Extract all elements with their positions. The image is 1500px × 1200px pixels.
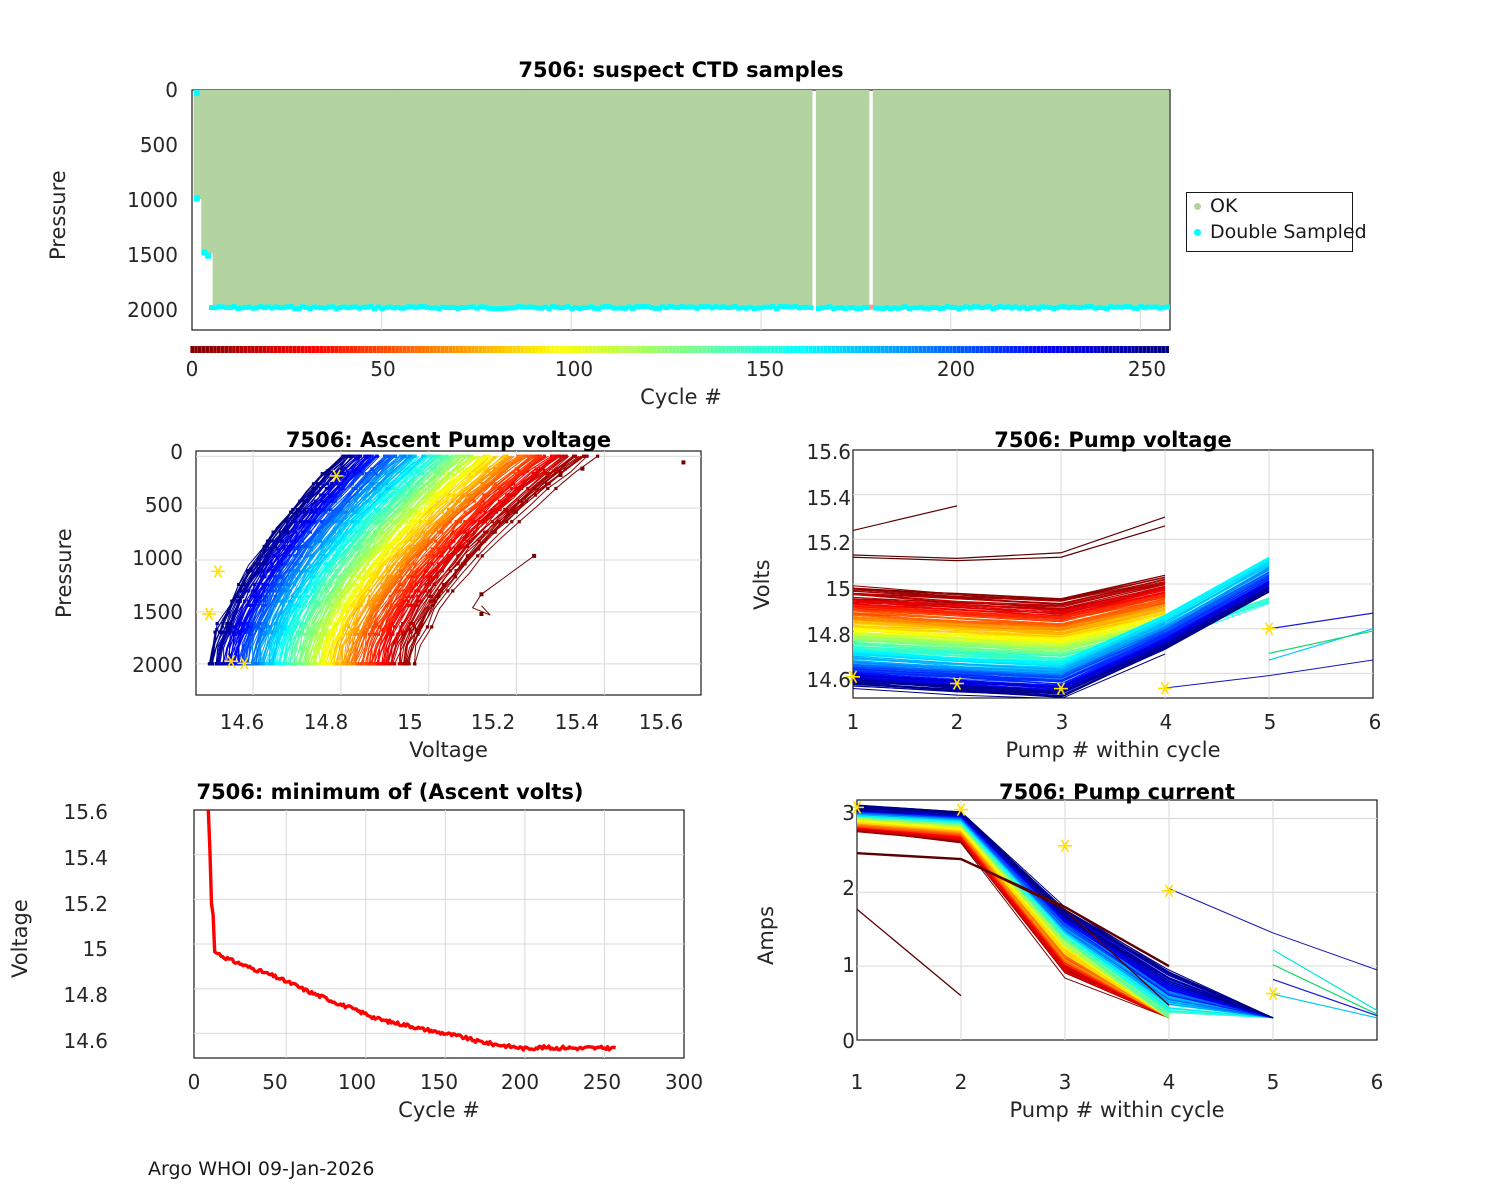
xtick-pv-2: 2: [927, 710, 987, 734]
ytick-asc-1000: 1000: [105, 546, 183, 570]
ytick-pc-1: 1: [785, 953, 855, 977]
xtick-mv-100: 100: [327, 1070, 387, 1094]
legend-suspect-ctd: OK Double Sampled: [1186, 192, 1353, 252]
ytick-1500: 1500: [100, 243, 178, 267]
yaxis-label-amps: Amps: [754, 906, 778, 965]
panel-title-suspect-ctd: 7506: suspect CTD samples: [192, 58, 1170, 82]
xaxis-label-pump-number-voltage: Pump # within cycle: [853, 738, 1373, 762]
plot-area-minimum-ascent-volts: [0, 770, 740, 1120]
xtick-asc-15: 15: [372, 710, 448, 734]
legend-item-double-sampled: Double Sampled: [1187, 219, 1352, 245]
xaxis-label-pump-number-current: Pump # within cycle: [857, 1098, 1377, 1122]
plot-area-ascent-pump-voltage: [0, 420, 740, 760]
xtick-200: 200: [926, 357, 986, 381]
ytick-asc-1500: 1500: [105, 600, 183, 624]
ytick-pv-154: 15.4: [773, 486, 851, 510]
xtick-mv-50: 50: [245, 1070, 305, 1094]
xtick-pc-6: 6: [1347, 1070, 1407, 1094]
legend-item-ok: OK: [1187, 193, 1352, 219]
ytick-asc-500: 500: [105, 493, 183, 517]
ytick-mv-152: 15.2: [30, 892, 108, 916]
panel-title-pump-voltage: 7506: Pump voltage: [853, 428, 1373, 452]
ytick-500: 500: [100, 133, 178, 157]
yaxis-label-pressure-ascent: Pressure: [52, 528, 76, 618]
xtick-150: 150: [735, 357, 795, 381]
xtick-mv-200: 200: [490, 1070, 550, 1094]
xtick-asc-146: 14.6: [204, 710, 280, 734]
ytick-pv-152: 15.2: [773, 531, 851, 555]
ytick-pc-3: 3: [785, 801, 855, 825]
panel-title-minimum-ascent-volts: 7506: minimum of (Ascent volts): [110, 780, 670, 804]
ytick-mv-154: 15.4: [30, 846, 108, 870]
ytick-pc-2: 2: [785, 876, 855, 900]
xtick-pc-4: 4: [1139, 1070, 1199, 1094]
ytick-mv-156: 15.6: [30, 800, 108, 824]
xtick-mv-250: 250: [572, 1070, 632, 1094]
ytick-0: 0: [100, 78, 178, 102]
ytick-2000: 2000: [100, 298, 178, 322]
xtick-0: 0: [162, 357, 222, 381]
xtick-mv-150: 150: [409, 1070, 469, 1094]
xtick-pc-1: 1: [827, 1070, 887, 1094]
footer-credit: Argo WHOI 09-Jan-2026: [148, 1158, 374, 1180]
xtick-pc-2: 2: [931, 1070, 991, 1094]
ytick-pv-156: 15.6: [773, 440, 851, 464]
xtick-pc-3: 3: [1035, 1070, 1095, 1094]
xtick-asc-154: 15.4: [539, 710, 615, 734]
xtick-250: 250: [1117, 357, 1177, 381]
xtick-mv-300: 300: [654, 1070, 714, 1094]
legend-dot-ok: [1194, 203, 1201, 210]
plot-area-pump-voltage: [760, 420, 1500, 760]
ytick-pv-148: 14.8: [773, 623, 851, 647]
xtick-50: 50: [353, 357, 413, 381]
ytick-pv-146: 14.6: [773, 668, 851, 692]
yaxis-label-pressure: Pressure: [46, 170, 70, 260]
panel-title-ascent-pump-voltage: 7506: Ascent Pump voltage: [196, 428, 701, 452]
xtick-pv-3: 3: [1032, 710, 1092, 734]
ytick-mv-15: 15: [30, 937, 108, 961]
xtick-asc-148: 14.8: [288, 710, 364, 734]
ytick-mv-146: 14.6: [30, 1029, 108, 1053]
yaxis-label-voltage-min: Voltage: [8, 899, 32, 978]
figure-canvas: 7506: suspect CTD samples 0 500 1000 150…: [0, 0, 1500, 1200]
ytick-mv-148: 14.8: [30, 983, 108, 1007]
xaxis-label-voltage: Voltage: [196, 738, 701, 762]
xaxis-label-cycle-minvolts: Cycle #: [194, 1098, 684, 1122]
ytick-1000: 1000: [100, 188, 178, 212]
ytick-asc-2000: 2000: [105, 653, 183, 677]
xtick-asc-152: 15.2: [455, 710, 531, 734]
legend-label-ok: OK: [1210, 195, 1237, 217]
panel-pump-current: 7506: Pump current 3 2 1 0 1 2 3 4 5 6 P…: [760, 770, 1500, 1120]
xtick-pv-5: 5: [1240, 710, 1300, 734]
panel-ascent-pump-voltage: 7506: Ascent Pump voltage 0 500 1000 150…: [0, 420, 740, 760]
xtick-pv-4: 4: [1136, 710, 1196, 734]
legend-dot-double-sampled: [1194, 229, 1201, 236]
xtick-mv-0: 0: [164, 1070, 224, 1094]
panel-suspect-ctd-samples: 7506: suspect CTD samples 0 500 1000 150…: [0, 0, 1250, 400]
xtick-pc-5: 5: [1243, 1070, 1303, 1094]
ytick-asc-0: 0: [105, 440, 183, 464]
xtick-pv-1: 1: [823, 710, 883, 734]
xtick-pv-6: 6: [1345, 710, 1405, 734]
yaxis-label-volts: Volts: [750, 559, 774, 610]
xtick-100: 100: [544, 357, 604, 381]
ytick-pc-0: 0: [785, 1029, 855, 1053]
panel-pump-voltage: 7506: Pump voltage 15.6 15.4 15.2 15 14.…: [760, 420, 1500, 760]
panel-title-pump-current: 7506: Pump current: [857, 780, 1377, 804]
xtick-asc-156: 15.6: [623, 710, 699, 734]
legend-label-double-sampled: Double Sampled: [1210, 221, 1367, 243]
ytick-pv-15: 15: [773, 577, 851, 601]
plot-area-pump-current: [760, 770, 1500, 1120]
panel-minimum-ascent-volts: 7506: minimum of (Ascent volts) 15.6 15.…: [0, 770, 740, 1120]
xaxis-label-cycle: Cycle #: [192, 385, 1170, 409]
